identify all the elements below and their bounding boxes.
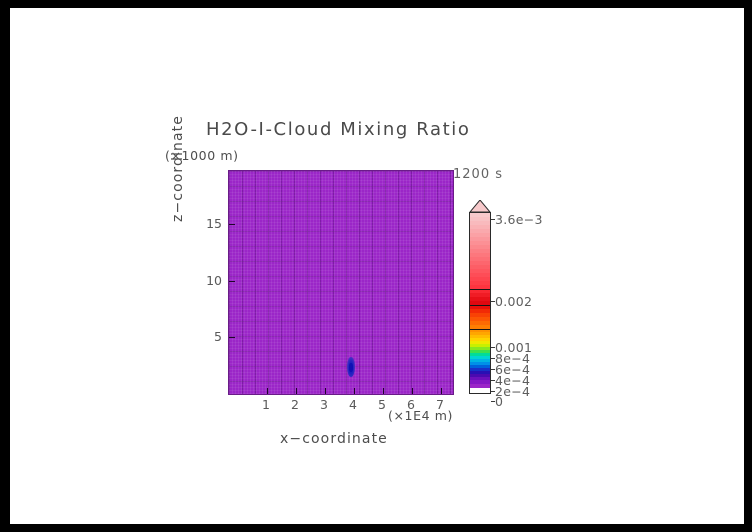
x-tick-mark bbox=[354, 388, 355, 394]
colorbar-tick-mark bbox=[491, 219, 495, 220]
colorbar-tick-mark bbox=[491, 301, 495, 302]
colorbar[interactable]: 3.6e−30.0020.0018e−46e−44e−42e−40 bbox=[469, 200, 491, 394]
colorbar-tick-mark bbox=[491, 380, 495, 381]
x-tick-mark bbox=[296, 388, 297, 394]
x-tick-mark bbox=[383, 388, 384, 394]
y-tick-mark bbox=[229, 337, 235, 338]
x-tick-mark bbox=[412, 388, 413, 394]
plot-figure: H2O-I-Cloud Mixing Ratio (×1000 m) 1200 … bbox=[10, 8, 744, 524]
x-tick-mark bbox=[441, 388, 442, 394]
y-tick-label: 5 bbox=[196, 329, 222, 344]
x-axis-title: x−coordinate bbox=[280, 431, 388, 447]
figure-page: H2O-I-Cloud Mixing Ratio (×1000 m) 1200 … bbox=[10, 8, 744, 524]
colorbar-extend-arrow-icon bbox=[469, 200, 491, 212]
y-axis-title: z−coordinate bbox=[170, 115, 186, 222]
colorbar-tick-mark bbox=[491, 347, 495, 348]
colorbar-separator bbox=[470, 329, 490, 330]
colorbar-tick-label: 0.002 bbox=[495, 294, 532, 309]
x-tick-mark bbox=[325, 388, 326, 394]
colorbar-band bbox=[470, 384, 490, 388]
colorbar-separator bbox=[470, 289, 490, 290]
heatmap-plot-area[interactable] bbox=[228, 170, 454, 395]
colorbar-tick-label: 0 bbox=[495, 394, 503, 409]
x-tick-label: 2 bbox=[283, 397, 307, 412]
x-tick-label: 4 bbox=[341, 397, 365, 412]
colorbar-separator bbox=[470, 305, 490, 306]
colorbar-tick-mark bbox=[491, 358, 495, 359]
y-tick-mark bbox=[229, 281, 235, 282]
colorbar-tick-mark bbox=[491, 391, 495, 392]
x-tick-label: 1 bbox=[254, 397, 278, 412]
colorbar-tick-mark bbox=[491, 369, 495, 370]
x-tick-mark bbox=[267, 388, 268, 394]
y-tick-label: 10 bbox=[196, 273, 222, 288]
y-tick-mark bbox=[229, 224, 235, 225]
colorbar-gradient bbox=[469, 212, 491, 394]
page-title: H2O-I-Cloud Mixing Ratio bbox=[206, 119, 470, 140]
grid-mesh bbox=[229, 171, 453, 394]
colorbar-tick-label: 3.6e−3 bbox=[495, 212, 543, 227]
time-annotation: 1200 s bbox=[453, 167, 503, 182]
cloud-blob-core bbox=[349, 363, 353, 372]
colorbar-tick-mark bbox=[491, 401, 495, 402]
x-tick-label: 3 bbox=[312, 397, 336, 412]
y-tick-label: 15 bbox=[196, 216, 222, 231]
x-axis-unit-label: (×1E4 m) bbox=[388, 408, 453, 423]
